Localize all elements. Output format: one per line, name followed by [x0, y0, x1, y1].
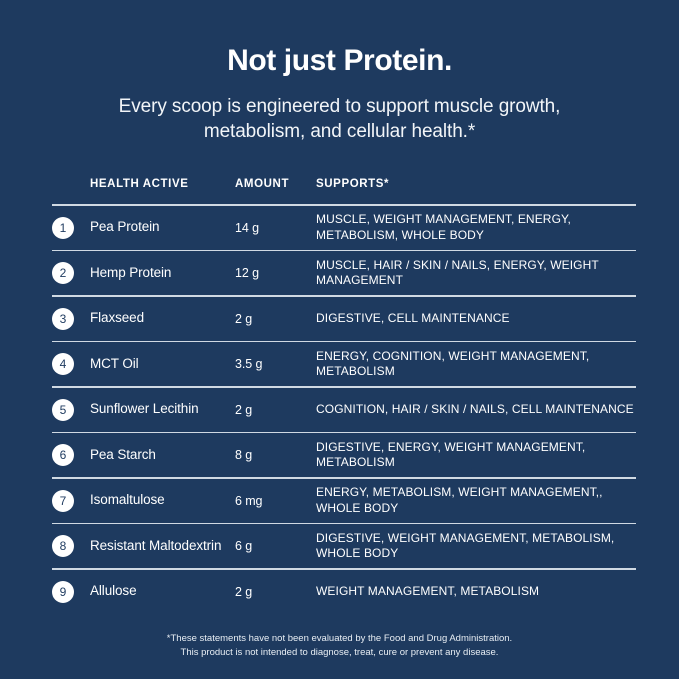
ingredients-table: HEALTH ACTIVE AMOUNT SUPPORTS* 1 Pea Pro…: [52, 178, 636, 614]
table-row: 9 Allulose 2 g WEIGHT MANAGEMENT, METABO…: [52, 570, 636, 614]
table-header-row: HEALTH ACTIVE AMOUNT SUPPORTS*: [52, 178, 636, 204]
row-number-badge: 1: [52, 217, 74, 239]
ingredient-name: Hemp Protein: [90, 265, 235, 281]
ingredient-name: MCT Oil: [90, 356, 235, 372]
ingredient-name: Pea Starch: [90, 447, 235, 463]
table-row: 3 Flaxseed 2 g DIGESTIVE, CELL MAINTENAN…: [52, 297, 636, 341]
row-number-badge: 8: [52, 535, 74, 557]
ingredient-supports: ENERGY, METABOLISM, WEIGHT MANAGEMENT,, …: [316, 485, 636, 516]
ingredient-name: Isomaltulose: [90, 492, 235, 508]
ingredient-amount: 2 g: [235, 312, 316, 326]
table-row: 6 Pea Starch 8 g DIGESTIVE, ENERGY, WEIG…: [52, 433, 636, 477]
ingredient-amount: 12 g: [235, 266, 316, 280]
ingredient-amount: 6 g: [235, 539, 316, 553]
row-number-badge: 7: [52, 490, 74, 512]
column-header-health-active: HEALTH ACTIVE: [90, 178, 235, 190]
row-number-badge: 6: [52, 444, 74, 466]
disclaimer-line-1: *These statements have not been evaluate…: [0, 632, 679, 647]
ingredient-amount: 3.5 g: [235, 357, 316, 371]
ingredient-name: Pea Protein: [90, 219, 235, 235]
ingredient-amount: 14 g: [235, 221, 316, 235]
ingredient-supports: MUSCLE, HAIR / SKIN / NAILS, ENERGY, WEI…: [316, 258, 636, 289]
ingredient-supports: COGNITION, HAIR / SKIN / NAILS, CELL MAI…: [316, 402, 636, 417]
ingredient-supports: DIGESTIVE, WEIGHT MANAGEMENT, METABOLISM…: [316, 531, 636, 562]
ingredient-supports: DIGESTIVE, ENERGY, WEIGHT MANAGEMENT, ME…: [316, 440, 636, 471]
table-row: 7 Isomaltulose 6 mg ENERGY, METABOLISM, …: [52, 479, 636, 523]
table-row: 2 Hemp Protein 12 g MUSCLE, HAIR / SKIN …: [52, 251, 636, 295]
table-row: 4 MCT Oil 3.5 g ENERGY, COGNITION, WEIGH…: [52, 342, 636, 386]
table-row: 5 Sunflower Lecithin 2 g COGNITION, HAIR…: [52, 388, 636, 432]
ingredient-name: Resistant Maltodextrin: [90, 538, 235, 554]
ingredient-amount: 2 g: [235, 403, 316, 417]
ingredient-amount: 8 g: [235, 448, 316, 462]
page-subtitle: Every scoop is engineered to support mus…: [70, 95, 610, 144]
ingredient-amount: 6 mg: [235, 494, 316, 508]
row-number-badge: 4: [52, 353, 74, 375]
table-row: 1 Pea Protein 14 g MUSCLE, WEIGHT MANAGE…: [52, 206, 636, 250]
legal-disclaimer: *These statements have not been evaluate…: [0, 632, 679, 661]
row-number-badge: 9: [52, 581, 74, 603]
disclaimer-line-2: This product is not intended to diagnose…: [0, 646, 679, 661]
ingredient-supports: WEIGHT MANAGEMENT, METABOLISM: [316, 584, 636, 599]
column-header-supports: SUPPORTS*: [316, 178, 636, 190]
row-number-badge: 3: [52, 308, 74, 330]
ingredient-supports: MUSCLE, WEIGHT MANAGEMENT, ENERGY, METAB…: [316, 212, 636, 243]
ingredient-supports: DIGESTIVE, CELL MAINTENANCE: [316, 311, 636, 326]
row-number-badge: 2: [52, 262, 74, 284]
table-row: 8 Resistant Maltodextrin 6 g DIGESTIVE, …: [52, 524, 636, 568]
ingredient-name: Sunflower Lecithin: [90, 401, 235, 417]
page-title: Not just Protein.: [0, 0, 679, 77]
nutrition-infographic: Not just Protein. Every scoop is enginee…: [0, 0, 679, 679]
ingredient-name: Allulose: [90, 583, 235, 599]
ingredient-amount: 2 g: [235, 585, 316, 599]
ingredient-supports: ENERGY, COGNITION, WEIGHT MANAGEMENT, ME…: [316, 349, 636, 380]
ingredient-name: Flaxseed: [90, 310, 235, 326]
row-number-badge: 5: [52, 399, 74, 421]
column-header-amount: AMOUNT: [235, 178, 316, 190]
